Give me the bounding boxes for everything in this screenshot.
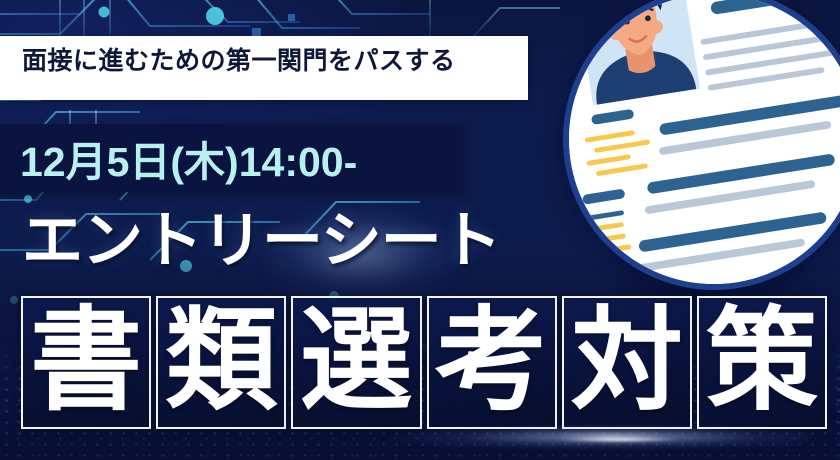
kanji-char: 策 <box>706 305 818 417</box>
bottom-light-streak <box>150 420 810 454</box>
kanji-cell: 選 <box>291 296 421 429</box>
headline-kanji-row: 書類選考対策 <box>21 296 827 429</box>
kanji-char: 書 <box>30 305 142 417</box>
kanji-char: 類 <box>165 305 277 417</box>
seminar-banner: 面接に進むための第一関門をパスする 12月5日(木)14:00- エントリーシー… <box>0 0 840 460</box>
kanji-cell: 書 <box>21 296 151 429</box>
bottom-light-streak-core <box>560 437 680 442</box>
date-text: 12月5日(木)14:00- <box>20 124 357 192</box>
kanji-cell: 類 <box>156 296 286 429</box>
kanji-cell: 策 <box>697 296 827 429</box>
kanji-char: 考 <box>436 305 548 417</box>
top-banner-text: 面接に進むための第一関門をパスする <box>22 36 532 82</box>
kanji-char: 対 <box>571 305 683 417</box>
kanji-cell: 考 <box>427 296 557 429</box>
subtitle-katakana: エントリーシート <box>22 196 501 272</box>
kanji-char: 選 <box>300 305 412 417</box>
kanji-cell: 対 <box>562 296 692 429</box>
